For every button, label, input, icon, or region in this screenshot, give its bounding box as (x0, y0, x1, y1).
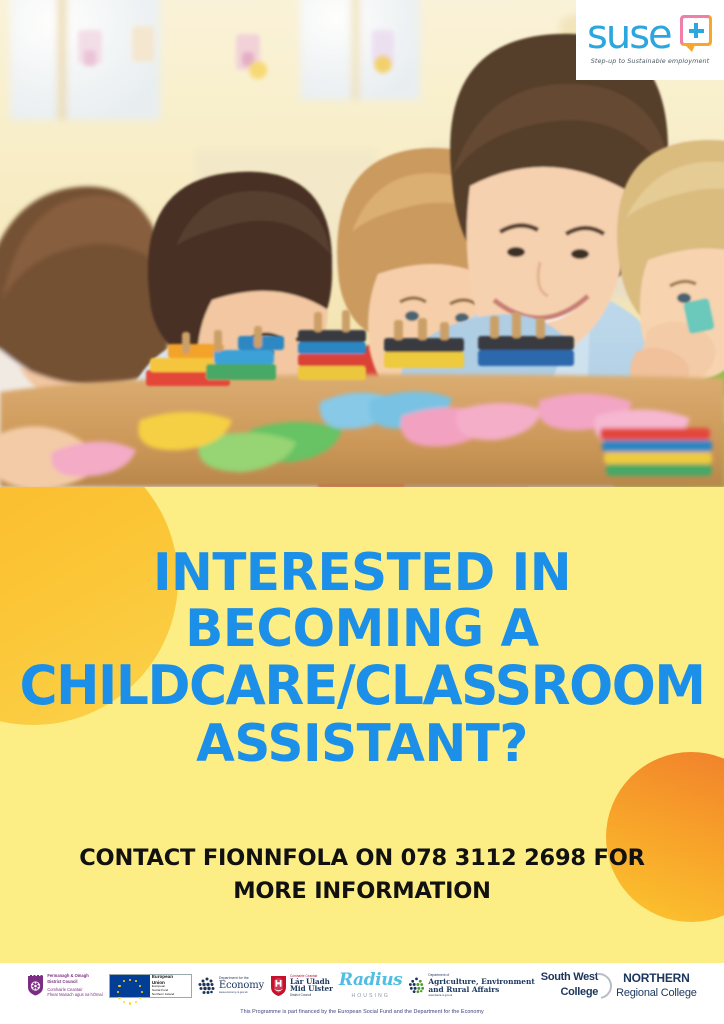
mid-ulster-text: Comhairle Ceantair Lár Uladh Mid Ulster … (290, 974, 333, 998)
radius-subtitle: HOUSING (352, 993, 390, 999)
funding-statement: This Programme is part financed by the E… (0, 1009, 724, 1015)
poster: suse Step-up to Sustainable employment I… (0, 0, 724, 1024)
daera-dots-icon (408, 977, 425, 994)
footer: Fermanagh & Omagh District Council Comha… (0, 963, 724, 1024)
nrc-line-2: Regional College (616, 987, 697, 999)
headline-line-4: ASSISTANT? (14, 716, 709, 772)
page-title: INTERESTED IN BECOMING A CHILDCARE/CLASS… (14, 545, 709, 772)
message-section: INTERESTED IN BECOMING A CHILDCARE/CLASS… (0, 487, 724, 963)
mid-ulster-crest-icon (270, 975, 287, 996)
eu-flag-icon (110, 975, 150, 997)
suse-logo-mark: suse (587, 15, 713, 59)
logo-fermanagh-omagh-district-council: Fermanagh & Omagh District Council Comha… (27, 973, 103, 998)
partner-logo-strip: Fermanagh & Omagh District Council Comha… (0, 963, 724, 1008)
contact-line-1: CONTACT FIONNFOLA ON 078 3112 2698 FOR (79, 845, 645, 871)
fodc-text: Fermanagh & Omagh District Council Comha… (47, 973, 103, 998)
fermanagh-omagh-crest-icon (27, 975, 44, 996)
logo-department-for-the-economy: Department for the Economy www.economy-n… (198, 976, 264, 994)
dfe-url: www.economy-ni.gov.uk (219, 991, 264, 995)
daera-url: www.daera-ni.gov.uk (428, 994, 534, 997)
contact-info: CONTACT FIONNFOLA ON 078 3112 2698 FOR M… (62, 842, 662, 907)
daera-line-3: and Rural Affairs (428, 986, 534, 994)
mid-ulster-line-4: District Council (290, 993, 333, 997)
speech-bubble-inner (683, 18, 709, 43)
logo-northern-regional-college: NORTHERN Regional College (616, 972, 697, 1000)
logo-department-of-agriculture-environment-and-rural-affairs: Department of Agriculture, Environment a… (408, 974, 534, 998)
eu-logo-box: European Union European Social Fund Nort… (109, 974, 192, 998)
nrc-line-1: NORTHERN (623, 972, 689, 985)
logo-mid-ulster-district-council: Comhairle Ceantair Lár Uladh Mid Ulster … (270, 974, 333, 998)
logo-european-union: European Union European Social Fund Nort… (109, 974, 192, 998)
dfe-text: Department for the Economy www.economy-n… (219, 976, 264, 994)
eu-line-5: Northern Ireland (152, 993, 189, 997)
radius-wordmark: Radius (339, 972, 402, 989)
suse-wordmark: suse (587, 13, 671, 57)
logo-south-west-college: South West College (541, 972, 610, 998)
logo-radius-housing: Radius HOUSING (339, 972, 402, 999)
mid-ulster-line-3: Mid Ulster (290, 985, 333, 993)
headline-line-1: INTERESTED IN (14, 545, 709, 601)
dfe-dots-icon (198, 977, 216, 995)
speech-bubble-icon (680, 15, 712, 46)
plus-icon (689, 23, 704, 38)
headline-line-3: CHILDCARE/CLASSROOM (14, 657, 709, 715)
fodc-line-4: Fhear Manach agus na hÓmaí (47, 992, 103, 998)
dfe-line-2: Economy (219, 981, 264, 992)
suse-logo: suse Step-up to Sustainable employment (576, 0, 724, 80)
headline-line-2: BECOMING A (14, 601, 709, 657)
daera-text: Department of Agriculture, Environment a… (428, 974, 534, 998)
eu-text: European Union European Social Fund Nort… (150, 975, 191, 997)
contact-line-2: MORE INFORMATION (233, 878, 491, 904)
